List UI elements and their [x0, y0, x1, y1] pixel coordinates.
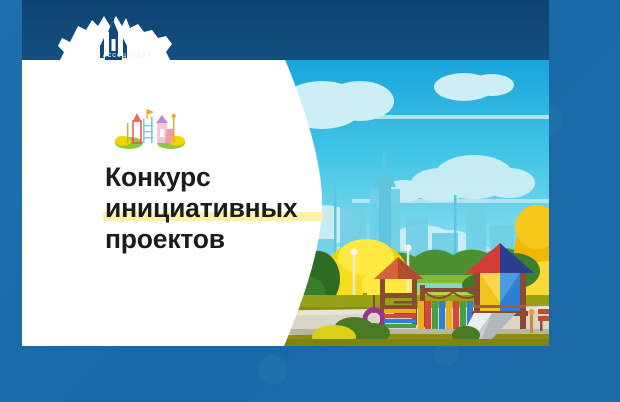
- title-line-2: инициативных: [105, 193, 320, 224]
- playground-mini-icon: [115, 107, 185, 149]
- title-line-1: Конкурс: [105, 162, 320, 193]
- page-background: АССОЦИАЦИЯ СМО РЕСПУБЛИКИ БАШКОРТОСТАН: [0, 0, 620, 402]
- logo-text: АССОЦИАЦИЯ СМО РЕСПУБЛИКИ БАШКОРТОСТАН: [84, 54, 170, 60]
- logo-band: АССОЦИАЦИЯ СМО РЕСПУБЛИКИ БАШКОРТОСТАН: [22, 0, 549, 60]
- page-title: Конкурс инициативных проектов: [105, 162, 320, 255]
- banner-card: АССОЦИАЦИЯ СМО РЕСПУБЛИКИ БАШКОРТОСТАН: [22, 0, 549, 346]
- title-line-3: проектов: [105, 224, 320, 255]
- region-map-icon: [52, 0, 174, 60]
- association-smo-logo: АССОЦИАЦИЯ СМО РЕСПУБЛИКИ БАШКОРТОСТАН: [52, 0, 174, 60]
